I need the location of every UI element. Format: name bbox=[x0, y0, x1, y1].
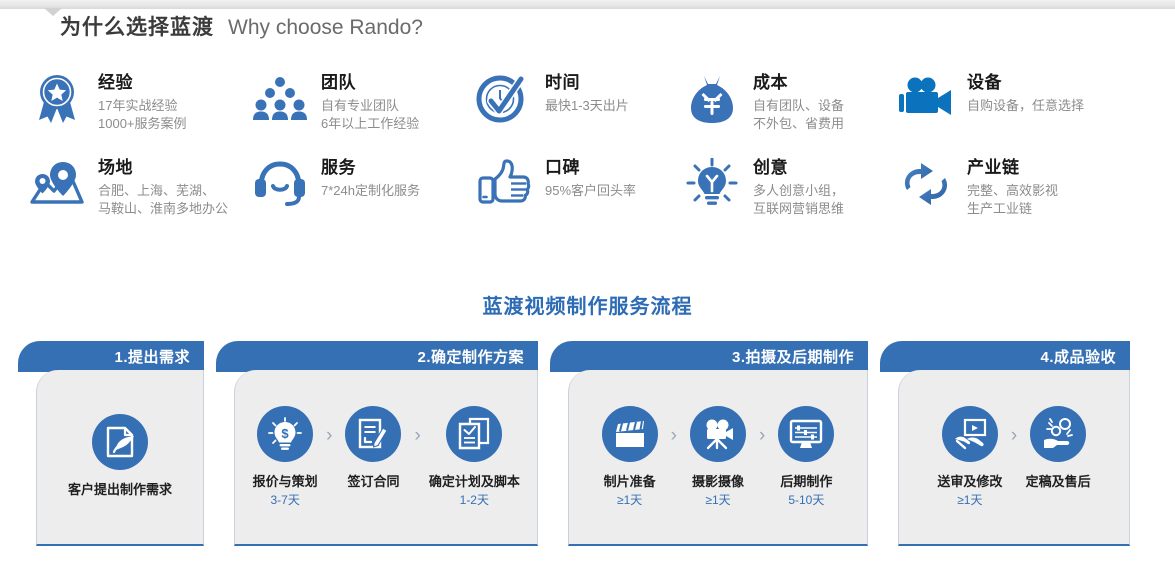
process-step-days: 1-2天 bbox=[460, 493, 489, 508]
features-grid: 经验 17年实战经验 1000+服务案例 bbox=[0, 68, 1175, 218]
process-card-4-header: 4.成品验收 bbox=[880, 341, 1130, 372]
process-step-days: ≥1天 bbox=[705, 493, 730, 508]
process-step-label: 制片准备 bbox=[604, 473, 656, 490]
feature-title: 经验 bbox=[98, 72, 187, 94]
top-divider-bar bbox=[0, 0, 1175, 9]
recycle-arrows-icon bbox=[897, 155, 955, 213]
process-step-label: 摄影摄像 bbox=[692, 473, 744, 490]
lightbulb-icon bbox=[683, 155, 741, 213]
thumbs-up-icon bbox=[475, 155, 533, 213]
feature-title: 创意 bbox=[753, 157, 844, 179]
feature-item-creativity: 创意 多人创意小组， 互联网营销思维 bbox=[675, 153, 885, 218]
chevron-right-icon: › bbox=[759, 425, 765, 447]
medal-ribbon-icon bbox=[28, 70, 86, 128]
team-people-icon bbox=[251, 70, 309, 128]
process-step-sign-contract[interactable]: 签订合同 bbox=[336, 406, 410, 493]
process-step-days: ≥1天 bbox=[957, 493, 982, 508]
feature-desc-line2: 互联网营销思维 bbox=[753, 200, 844, 218]
process-step-filming[interactable]: 摄影摄像 ≥1天 bbox=[681, 406, 755, 508]
features-row-1: 经验 17年实战经验 1000+服务案例 bbox=[0, 68, 1175, 133]
process-card-1-steps: 客户提出制作需求 bbox=[37, 414, 203, 501]
process-step-plan-script[interactable]: 确定计划及脚本 1-2天 bbox=[425, 406, 524, 508]
process-card-3-header: 3.拍摄及后期制作 bbox=[550, 341, 868, 372]
film-camera-icon bbox=[690, 406, 746, 462]
feature-item-cost: 成本 自有团队、设备 不外包、省费用 bbox=[675, 68, 885, 133]
process-step-label: 报价与策划 bbox=[253, 473, 318, 490]
feature-desc-line2: 6年以上工作经验 bbox=[321, 115, 419, 133]
map-pin-icon bbox=[28, 155, 86, 213]
features-row-2: 场地 合肥、上海、芜湖、 马鞍山、淮南多地办公 服 bbox=[0, 153, 1175, 218]
feature-text: 创意 多人创意小组， 互联网营销思维 bbox=[753, 153, 844, 218]
process-step-label: 送审及修改 bbox=[937, 473, 1002, 490]
headset-icon bbox=[251, 155, 309, 213]
feature-desc-line1: 7*24h定制化服务 bbox=[321, 182, 420, 200]
feature-item-experience: 经验 17年实战经验 1000+服务案例 bbox=[0, 68, 235, 133]
feature-item-time: 时间 最快1-3天出片 bbox=[460, 68, 675, 133]
process-step-label: 定稿及售后 bbox=[1026, 473, 1091, 490]
process-card-3-steps: 制片准备 ≥1天 › bbox=[569, 406, 867, 508]
feature-title: 口碑 bbox=[545, 157, 636, 179]
hand-coins-icon bbox=[1030, 406, 1086, 462]
feature-text: 口碑 95%客户回头率 bbox=[545, 153, 636, 200]
clock-check-icon bbox=[475, 70, 533, 128]
process-card-4-body: 送审及修改 ≥1天 › bbox=[898, 370, 1130, 546]
chevron-right-icon: › bbox=[414, 425, 420, 447]
feature-text: 经验 17年实战经验 1000+服务案例 bbox=[98, 68, 187, 133]
feature-item-service: 服务 7*24h定制化服务 bbox=[235, 153, 460, 218]
process-step-label: 签订合同 bbox=[347, 473, 399, 490]
process-card-1-body: 客户提出制作需求 bbox=[36, 370, 204, 546]
feature-desc-line1: 最快1-3天出片 bbox=[545, 97, 629, 115]
feature-item-reputation: 口碑 95%客户回头率 bbox=[460, 153, 675, 218]
feature-item-industry-chain: 产业链 完整、高效影视 生产工业链 bbox=[885, 153, 1175, 218]
process-step-review-revise[interactable]: 送审及修改 ≥1天 bbox=[933, 406, 1007, 508]
process-flow: 1.提出需求 客户提出制作需求 bbox=[18, 341, 1142, 546]
process-card-4: 4.成品验收 送审及修改 bbox=[880, 341, 1130, 546]
feature-desc-line1: 合肥、上海、芜湖、 bbox=[98, 182, 228, 200]
document-pen-icon bbox=[92, 414, 148, 470]
process-card-1-header: 1.提出需求 bbox=[18, 341, 204, 372]
feature-desc-line1: 自有团队、设备 bbox=[753, 97, 844, 115]
process-card-3-body: 制片准备 ≥1天 › bbox=[568, 370, 868, 546]
feature-title: 成本 bbox=[753, 72, 844, 94]
feature-text: 场地 合肥、上海、芜湖、 马鞍山、淮南多地办公 bbox=[98, 153, 228, 218]
feature-item-venue: 场地 合肥、上海、芜湖、 马鞍山、淮南多地办公 bbox=[0, 153, 235, 218]
feature-title: 设备 bbox=[967, 72, 1084, 94]
script-documents-icon bbox=[446, 406, 502, 462]
bulb-dollar-icon: $ bbox=[257, 406, 313, 462]
chevron-right-icon: › bbox=[671, 425, 677, 447]
feature-text: 成本 自有团队、设备 不外包、省费用 bbox=[753, 68, 844, 133]
process-step-quote-planning[interactable]: $ 报价与策划 3-7天 bbox=[248, 406, 322, 508]
process-card-2-body: $ 报价与策划 3-7天 › bbox=[234, 370, 538, 546]
feature-desc-line1: 自有专业团队 bbox=[321, 97, 419, 115]
process-card-1: 1.提出需求 客户提出制作需求 bbox=[18, 341, 204, 546]
feature-desc-line1: 完整、高效影视 bbox=[967, 182, 1058, 200]
feature-text: 服务 7*24h定制化服务 bbox=[321, 153, 420, 200]
feature-item-team: 团队 自有专业团队 6年以上工作经验 bbox=[235, 68, 460, 133]
handshake-screen-icon bbox=[942, 406, 998, 462]
feature-item-equipment: 设备 自购设备，任意选择 bbox=[885, 68, 1175, 133]
why-choose-page: 为什么选择蓝渡Why choose Rando? 经验 17年实战经验 bbox=[0, 0, 1175, 570]
process-step-days: 3-7天 bbox=[270, 493, 299, 508]
process-step-label: 后期制作 bbox=[780, 473, 832, 490]
page-title-en: Why choose Rando? bbox=[228, 16, 423, 39]
process-card-2: 2.确定制作方案 bbox=[216, 341, 538, 546]
feature-desc-line2: 1000+服务案例 bbox=[98, 115, 187, 133]
process-card-2-steps: $ 报价与策划 3-7天 › bbox=[235, 406, 537, 508]
feature-text: 团队 自有专业团队 6年以上工作经验 bbox=[321, 68, 419, 133]
feature-title: 产业链 bbox=[967, 157, 1058, 179]
process-step-label: 客户提出制作需求 bbox=[68, 481, 172, 498]
feature-desc-line1: 17年实战经验 bbox=[98, 97, 187, 115]
feature-desc-line1: 自购设备，任意选择 bbox=[967, 97, 1084, 115]
monitor-edit-icon bbox=[778, 406, 834, 462]
process-step-days: 5-10天 bbox=[788, 493, 824, 508]
process-step-submit-requirement[interactable]: 客户提出制作需求 bbox=[64, 414, 176, 501]
process-step-label: 确定计划及脚本 bbox=[429, 473, 520, 490]
process-step-post-production[interactable]: 后期制作 5-10天 bbox=[769, 406, 843, 508]
page-title-cn: 为什么选择蓝渡 bbox=[60, 16, 214, 39]
process-section-title: 蓝渡视频制作服务流程 bbox=[0, 290, 1175, 319]
feature-text: 产业链 完整、高效影视 生产工业链 bbox=[967, 153, 1058, 218]
feature-desc-line2: 生产工业链 bbox=[967, 200, 1058, 218]
feature-title: 团队 bbox=[321, 72, 419, 94]
process-card-3: 3.拍摄及后期制作 bbox=[550, 341, 868, 546]
money-bag-yuan-icon bbox=[683, 70, 741, 128]
page-title: 为什么选择蓝渡Why choose Rando? bbox=[60, 11, 423, 41]
feature-desc-line1: 95%客户回头率 bbox=[545, 182, 636, 200]
process-step-finalize-aftersales[interactable]: 定稿及售后 bbox=[1021, 406, 1095, 493]
feature-desc-line2: 马鞍山、淮南多地办公 bbox=[98, 200, 228, 218]
svg-text:$: $ bbox=[282, 426, 290, 441]
feature-desc-line2: 不外包、省费用 bbox=[753, 115, 844, 133]
process-step-production-prep[interactable]: 制片准备 ≥1天 bbox=[593, 406, 667, 508]
clapperboard-icon bbox=[602, 406, 658, 462]
feature-title: 时间 bbox=[545, 72, 629, 94]
feature-text: 时间 最快1-3天出片 bbox=[545, 68, 629, 115]
feature-title: 服务 bbox=[321, 157, 420, 179]
feature-desc-line1: 多人创意小组， bbox=[753, 182, 844, 200]
feature-title: 场地 bbox=[98, 157, 228, 179]
process-step-days: ≥1天 bbox=[617, 493, 642, 508]
process-card-2-header: 2.确定制作方案 bbox=[216, 341, 538, 372]
chevron-right-icon: › bbox=[326, 425, 332, 447]
chevron-right-icon: › bbox=[1011, 425, 1017, 447]
contract-sign-icon bbox=[345, 406, 401, 462]
feature-text: 设备 自购设备，任意选择 bbox=[967, 68, 1084, 115]
process-card-4-steps: 送审及修改 ≥1天 › bbox=[899, 406, 1129, 508]
movie-camera-icon bbox=[897, 70, 955, 128]
